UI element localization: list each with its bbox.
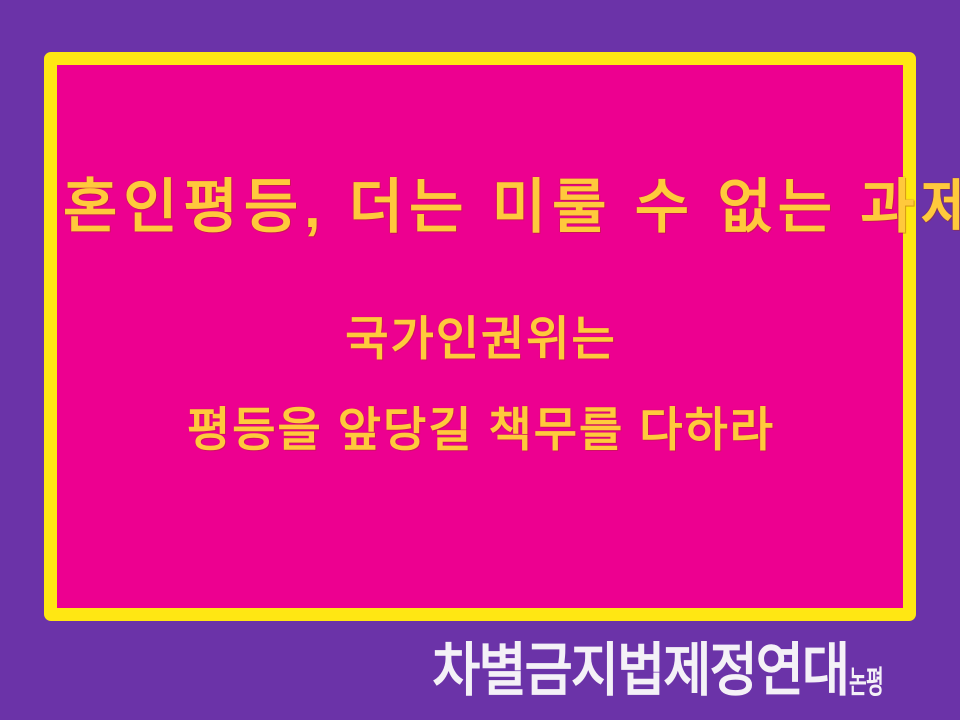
poster-content: 혼인평등, 더는 미룰 수 없는 과제 국가인권위는 평등을 앞당길 책무를 다…: [57, 65, 903, 608]
logo-bar: 차별금지법제정연대 논평: [0, 621, 960, 720]
organization-name: 차별금지법제정연대: [432, 644, 848, 697]
organization-logo: 차별금지법제정연대 논평: [386, 644, 904, 697]
subtitle-block: 국가인권위는 평등을 앞당길 책무를 다하라: [57, 315, 903, 453]
logo-tag-label: 논평: [849, 670, 883, 696]
subtitle-line-1: 국가인권위는: [57, 315, 903, 362]
poster-frame: 혼인평등, 더는 미룰 수 없는 과제 국가인권위는 평등을 앞당길 책무를 다…: [44, 52, 916, 621]
poster-card: 혼인평등, 더는 미룰 수 없는 과제 국가인권위는 평등을 앞당길 책무를 다…: [0, 0, 960, 720]
page-title: 혼인평등, 더는 미룰 수 없는 과제: [57, 177, 903, 239]
subtitle-line-2: 평등을 앞당길 책무를 다하라: [57, 406, 903, 453]
